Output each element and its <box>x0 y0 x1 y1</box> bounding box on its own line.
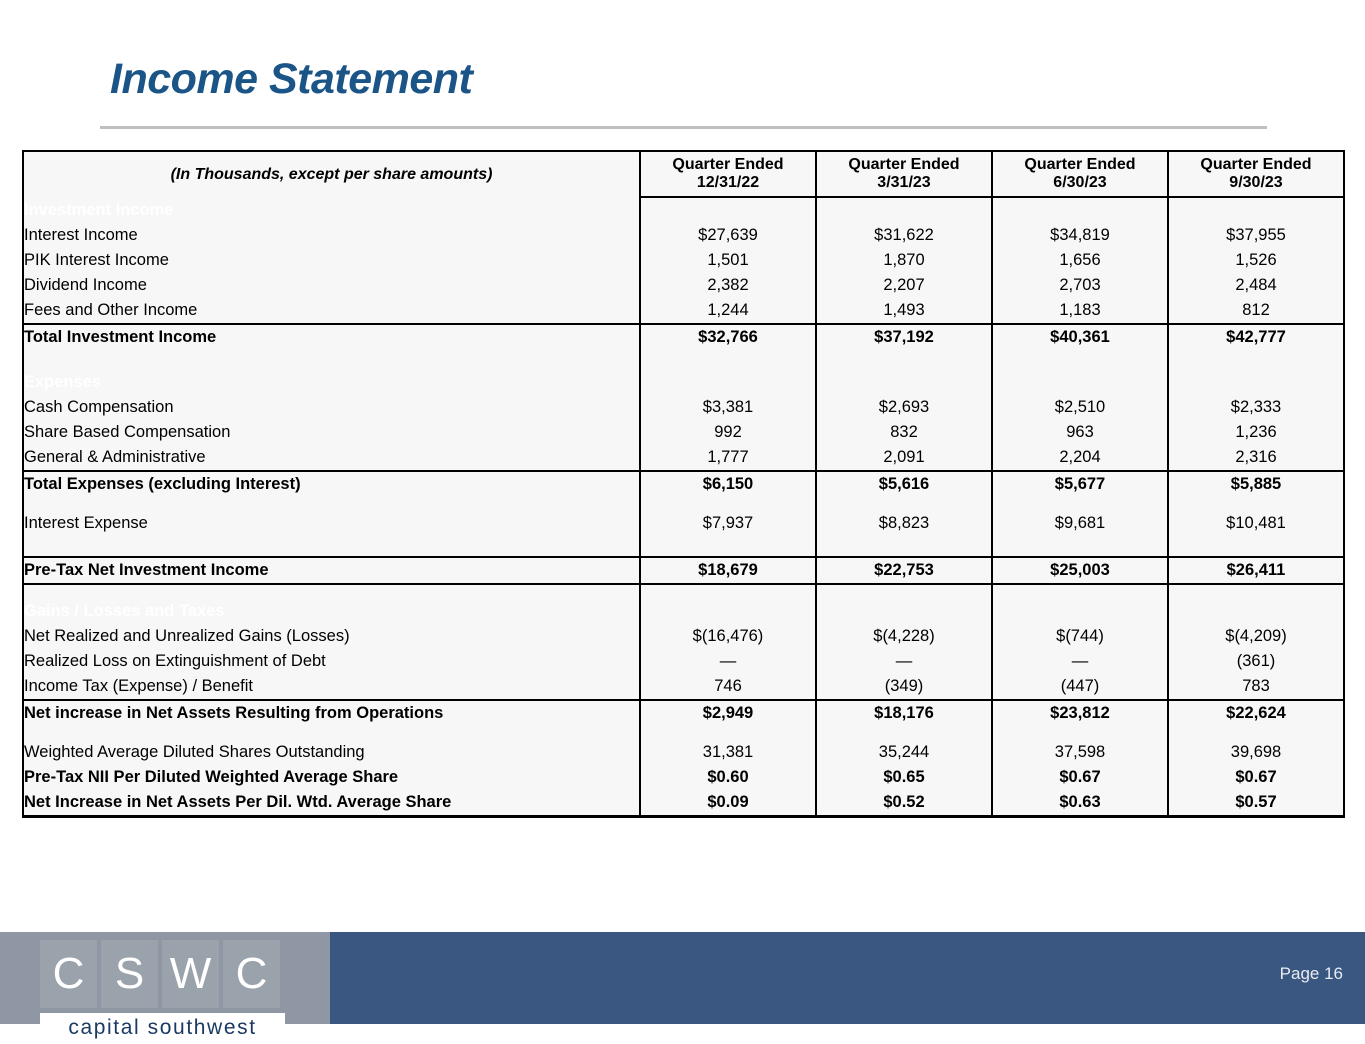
row-value: $0.67 <box>992 765 1168 790</box>
spacer-row <box>23 726 1344 740</box>
row-value: 31,381 <box>640 740 816 765</box>
table-row: Total Expenses (excluding Interest)$6,15… <box>23 471 1344 497</box>
row-value: $6,150 <box>640 471 816 497</box>
row-label: Net increase in Net Assets Resulting fro… <box>23 700 640 726</box>
row-value: $37,955 <box>1168 223 1344 248</box>
row-value <box>640 599 816 624</box>
table-row: Net Realized and Unrealized Gains (Losse… <box>23 624 1344 649</box>
row-label <box>23 350 640 370</box>
row-value: $2,510 <box>992 395 1168 420</box>
table-row: Total Investment Income$32,766$37,192$40… <box>23 324 1344 350</box>
row-value: $0.65 <box>816 765 992 790</box>
row-label <box>23 497 640 511</box>
row-label: Investment Income <box>23 197 640 223</box>
row-label: Dividend Income <box>23 273 640 298</box>
row-value <box>992 370 1168 395</box>
row-label: Share Based Compensation <box>23 420 640 445</box>
row-label: General & Administrative <box>23 445 640 471</box>
row-value <box>1168 370 1344 395</box>
column-header-date: 12/31/22 <box>641 174 815 192</box>
column-header-title: Quarter Ended <box>848 156 959 173</box>
row-value <box>640 726 816 740</box>
column-header-q3: Quarter Ended 6/30/23 <box>992 151 1168 197</box>
row-value: $0.67 <box>1168 765 1344 790</box>
row-value: 1,656 <box>992 248 1168 273</box>
row-value <box>640 370 816 395</box>
row-value <box>816 370 992 395</box>
row-label: PIK Interest Income <box>23 248 640 273</box>
row-value: $8,823 <box>816 511 992 536</box>
table-row: Net increase in Net Assets Resulting fro… <box>23 700 1344 726</box>
page-title: Income Statement <box>110 55 472 104</box>
row-value: (349) <box>816 674 992 700</box>
row-value <box>816 497 992 511</box>
column-header-q2: Quarter Ended 3/31/23 <box>816 151 992 197</box>
column-header-date: 3/31/23 <box>817 174 991 192</box>
row-value <box>1168 726 1344 740</box>
row-value: $34,819 <box>992 223 1168 248</box>
row-label: Income Tax (Expense) / Benefit <box>23 674 640 700</box>
logo-letter-c1: C <box>40 940 97 1008</box>
row-value <box>816 536 992 557</box>
row-value: $5,885 <box>1168 471 1344 497</box>
row-value: $(4,228) <box>816 624 992 649</box>
table-body: Investment IncomeInterest Income$27,639$… <box>23 197 1344 817</box>
row-value: $23,812 <box>992 700 1168 726</box>
spacer-row <box>23 350 1344 370</box>
row-value: 746 <box>640 674 816 700</box>
column-header-date: 6/30/23 <box>993 174 1167 192</box>
row-value: 1,870 <box>816 248 992 273</box>
row-label: Expenses <box>23 370 640 395</box>
row-value: 2,204 <box>992 445 1168 471</box>
row-value <box>640 197 816 223</box>
logo-letter-s: S <box>101 940 158 1008</box>
row-value: $2,949 <box>640 700 816 726</box>
logo-letter-c2: C <box>223 940 280 1008</box>
slide-footer: C S W C capital southwest Page 16 <box>0 932 1365 1024</box>
row-label: Net Increase in Net Assets Per Dil. Wtd.… <box>23 790 640 817</box>
page-number: Page 16 <box>1280 964 1343 984</box>
row-label <box>23 536 640 557</box>
row-value: 1,526 <box>1168 248 1344 273</box>
row-value: $5,677 <box>992 471 1168 497</box>
row-value: $27,639 <box>640 223 816 248</box>
row-label: Pre-Tax NII Per Diluted Weighted Average… <box>23 765 640 790</box>
row-value: 1,501 <box>640 248 816 273</box>
table-row: Fees and Other Income1,2441,4931,183812 <box>23 298 1344 324</box>
row-value <box>640 536 816 557</box>
row-value <box>1168 350 1344 370</box>
row-value: — <box>992 649 1168 674</box>
column-header-title: Quarter Ended <box>1024 156 1135 173</box>
row-value: 1,777 <box>640 445 816 471</box>
row-label: Realized Loss on Extinguishment of Debt <box>23 649 640 674</box>
row-value: $26,411 <box>1168 557 1344 584</box>
row-value <box>992 584 1168 599</box>
table-row: Cash Compensation$3,381$2,693$2,510$2,33… <box>23 395 1344 420</box>
row-value: $18,176 <box>816 700 992 726</box>
row-value: 1,183 <box>992 298 1168 324</box>
column-header-title: Quarter Ended <box>1200 156 1311 173</box>
logo-wordmark: capital southwest <box>40 1013 285 1044</box>
footer-blue-bar <box>330 932 1365 1024</box>
row-value: $40,361 <box>992 324 1168 350</box>
row-value: $37,192 <box>816 324 992 350</box>
row-value <box>816 599 992 624</box>
row-value: $0.63 <box>992 790 1168 817</box>
row-value: 2,703 <box>992 273 1168 298</box>
table-row: Share Based Compensation9928329631,236 <box>23 420 1344 445</box>
table-row: Weighted Average Diluted Shares Outstand… <box>23 740 1344 765</box>
table-header-row: (In Thousands, except per share amounts)… <box>23 151 1344 197</box>
row-value <box>1168 599 1344 624</box>
row-value: $(4,209) <box>1168 624 1344 649</box>
row-value: 963 <box>992 420 1168 445</box>
row-value <box>992 726 1168 740</box>
row-value <box>1168 536 1344 557</box>
row-value: $22,753 <box>816 557 992 584</box>
row-value <box>992 536 1168 557</box>
logo-letter-boxes: C S W C <box>40 940 285 1008</box>
logo-letter-w: W <box>162 940 219 1008</box>
row-value: $31,622 <box>816 223 992 248</box>
table-row: Income Tax (Expense) / Benefit746(349)(4… <box>23 674 1344 700</box>
row-value: 2,316 <box>1168 445 1344 471</box>
row-value: $(744) <box>992 624 1168 649</box>
row-value: $0.57 <box>1168 790 1344 817</box>
row-value: $0.09 <box>640 790 816 817</box>
table-row: Dividend Income2,3822,2072,7032,484 <box>23 273 1344 298</box>
row-value: $25,003 <box>992 557 1168 584</box>
row-value: 1,244 <box>640 298 816 324</box>
row-value: $0.52 <box>816 790 992 817</box>
table-row: General & Administrative1,7772,0912,2042… <box>23 445 1344 471</box>
row-label: Weighted Average Diluted Shares Outstand… <box>23 740 640 765</box>
row-label: Interest Expense <box>23 511 640 536</box>
row-label: Total Investment Income <box>23 324 640 350</box>
row-value <box>992 197 1168 223</box>
row-value <box>816 584 992 599</box>
row-value: 2,207 <box>816 273 992 298</box>
row-value: — <box>816 649 992 674</box>
table-row: Pre-Tax Net Investment Income$18,679$22,… <box>23 557 1344 584</box>
row-value <box>992 497 1168 511</box>
row-value <box>1168 497 1344 511</box>
row-value: $18,679 <box>640 557 816 584</box>
row-value <box>640 497 816 511</box>
row-value: 39,698 <box>1168 740 1344 765</box>
row-value: (447) <box>992 674 1168 700</box>
row-value: $5,616 <box>816 471 992 497</box>
column-header-q4: Quarter Ended 9/30/23 <box>1168 151 1344 197</box>
row-label: Gains / Losses and Taxes <box>23 599 640 624</box>
row-label <box>23 584 640 599</box>
section-header-row: Gains / Losses and Taxes <box>23 599 1344 624</box>
row-value <box>640 350 816 370</box>
row-value <box>1168 197 1344 223</box>
table-row: Interest Income$27,639$31,622$34,819$37,… <box>23 223 1344 248</box>
row-value: $42,777 <box>1168 324 1344 350</box>
row-value <box>1168 584 1344 599</box>
income-statement-table: (In Thousands, except per share amounts)… <box>22 150 1345 818</box>
row-value <box>640 584 816 599</box>
row-value: 37,598 <box>992 740 1168 765</box>
title-divider <box>100 126 1267 129</box>
row-value: 783 <box>1168 674 1344 700</box>
spacer-row <box>23 536 1344 557</box>
table-row: PIK Interest Income1,5011,8701,6561,526 <box>23 248 1344 273</box>
row-value: (361) <box>1168 649 1344 674</box>
cswc-logo: C S W C capital southwest <box>40 940 285 1044</box>
row-value: $2,333 <box>1168 395 1344 420</box>
table-row: Net Increase in Net Assets Per Dil. Wtd.… <box>23 790 1344 817</box>
row-value: $(16,476) <box>640 624 816 649</box>
table-row: Pre-Tax NII Per Diluted Weighted Average… <box>23 765 1344 790</box>
row-value: $2,693 <box>816 395 992 420</box>
row-value: $22,624 <box>1168 700 1344 726</box>
section-header-row: Investment Income <box>23 197 1344 223</box>
spacer-row <box>23 497 1344 511</box>
row-label: Net Realized and Unrealized Gains (Losse… <box>23 624 640 649</box>
table-row: Realized Loss on Extinguishment of Debt—… <box>23 649 1344 674</box>
row-value: $10,481 <box>1168 511 1344 536</box>
row-value: 832 <box>816 420 992 445</box>
row-value: 1,236 <box>1168 420 1344 445</box>
row-value: 2,091 <box>816 445 992 471</box>
row-label: Interest Income <box>23 223 640 248</box>
column-header-title: Quarter Ended <box>672 156 783 173</box>
row-value: 2,382 <box>640 273 816 298</box>
row-value: $0.60 <box>640 765 816 790</box>
row-value: 992 <box>640 420 816 445</box>
row-value <box>992 350 1168 370</box>
row-value <box>816 350 992 370</box>
row-value <box>816 197 992 223</box>
row-label: Cash Compensation <box>23 395 640 420</box>
row-value: 812 <box>1168 298 1344 324</box>
row-value: $3,381 <box>640 395 816 420</box>
column-header-date: 9/30/23 <box>1169 174 1343 192</box>
row-value: — <box>640 649 816 674</box>
column-header-q1: Quarter Ended 12/31/22 <box>640 151 816 197</box>
row-label: Total Expenses (excluding Interest) <box>23 471 640 497</box>
section-header-row: Expenses <box>23 370 1344 395</box>
units-note: (In Thousands, except per share amounts) <box>23 151 640 197</box>
row-value <box>992 599 1168 624</box>
row-value: $32,766 <box>640 324 816 350</box>
row-value: 2,484 <box>1168 273 1344 298</box>
row-label <box>23 726 640 740</box>
row-value <box>816 726 992 740</box>
row-label: Fees and Other Income <box>23 298 640 324</box>
row-value: $7,937 <box>640 511 816 536</box>
row-value: $9,681 <box>992 511 1168 536</box>
spacer-row <box>23 584 1344 599</box>
row-value: 1,493 <box>816 298 992 324</box>
row-label: Pre-Tax Net Investment Income <box>23 557 640 584</box>
table-row: Interest Expense$7,937$8,823$9,681$10,48… <box>23 511 1344 536</box>
row-value: 35,244 <box>816 740 992 765</box>
